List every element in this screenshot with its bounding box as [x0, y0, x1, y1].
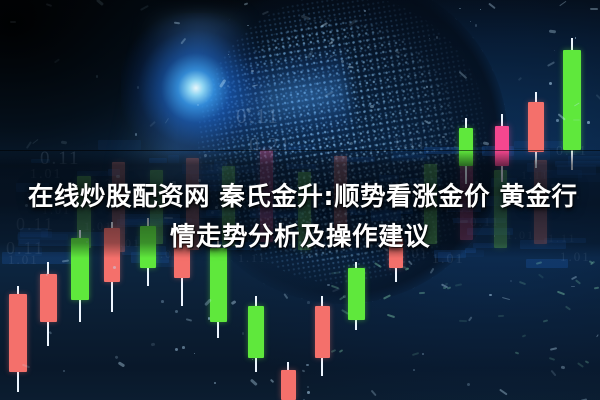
candle-body	[281, 370, 296, 400]
article-banner-image: 0.110.210.111.111.011.111.010.111.010.11…	[0, 0, 600, 400]
candlestick	[9, 286, 27, 392]
candle-body	[315, 306, 330, 358]
headline-line-2: 情走势分析及操作建议	[16, 217, 584, 257]
candle-body	[563, 50, 581, 150]
particle-dash	[150, 342, 154, 346]
particle-dot	[370, 105, 373, 108]
particle-dot	[63, 370, 65, 372]
particle-dot	[327, 284, 329, 286]
particle-dot	[307, 301, 310, 304]
candle-body	[40, 274, 57, 322]
particle-dot	[307, 391, 310, 394]
candle-body	[248, 306, 264, 358]
particle-dot	[96, 75, 98, 77]
particle-dot	[587, 121, 590, 124]
candle-body	[210, 248, 227, 322]
particle-dash	[459, 319, 467, 321]
particle-dash	[60, 140, 66, 144]
particle-dot	[242, 332, 244, 334]
particle-dot	[194, 353, 195, 354]
particle-dot	[470, 21, 471, 22]
particle-dot	[467, 383, 470, 386]
particle-dash	[549, 29, 557, 32]
particle-dot	[46, 273, 49, 276]
candlestick	[281, 362, 296, 400]
particle-dot	[175, 348, 178, 351]
particle-dot	[251, 70, 253, 72]
particle-dash	[573, 118, 580, 120]
candlestick	[348, 262, 365, 330]
particle-dash	[497, 314, 504, 316]
particle-dash	[442, 135, 445, 137]
particle-dot	[426, 86, 428, 88]
particle-dot	[135, 133, 137, 135]
order-block	[526, 259, 567, 268]
light-flare-icon	[121, 13, 271, 163]
candlestick	[315, 296, 330, 376]
particle-dot	[214, 382, 216, 384]
particle-dash	[571, 286, 575, 288]
particle-dot	[549, 82, 552, 85]
headline-scrim-edge	[0, 150, 600, 151]
order-block	[98, 140, 141, 149]
particle-dot	[510, 280, 512, 282]
particle-dot	[182, 346, 185, 349]
candle-body	[348, 268, 365, 320]
candle-body	[9, 294, 27, 372]
particle-dot	[459, 8, 461, 10]
particle-dash	[515, 351, 519, 354]
headline-line-1: 在线炒股配资网 秦氏金升:顺势看涨金价 黄金行	[16, 177, 584, 217]
candle-body	[528, 102, 544, 152]
particle-dot	[413, 369, 415, 371]
particle-dot	[412, 147, 414, 149]
particle-dot	[364, 10, 366, 12]
candlestick	[248, 296, 264, 372]
particle-dot	[307, 386, 309, 388]
banner-headline: 在线炒股配资网 秦氏金升:顺势看涨金价 黄金行 情走势分析及操作建议	[0, 177, 600, 257]
